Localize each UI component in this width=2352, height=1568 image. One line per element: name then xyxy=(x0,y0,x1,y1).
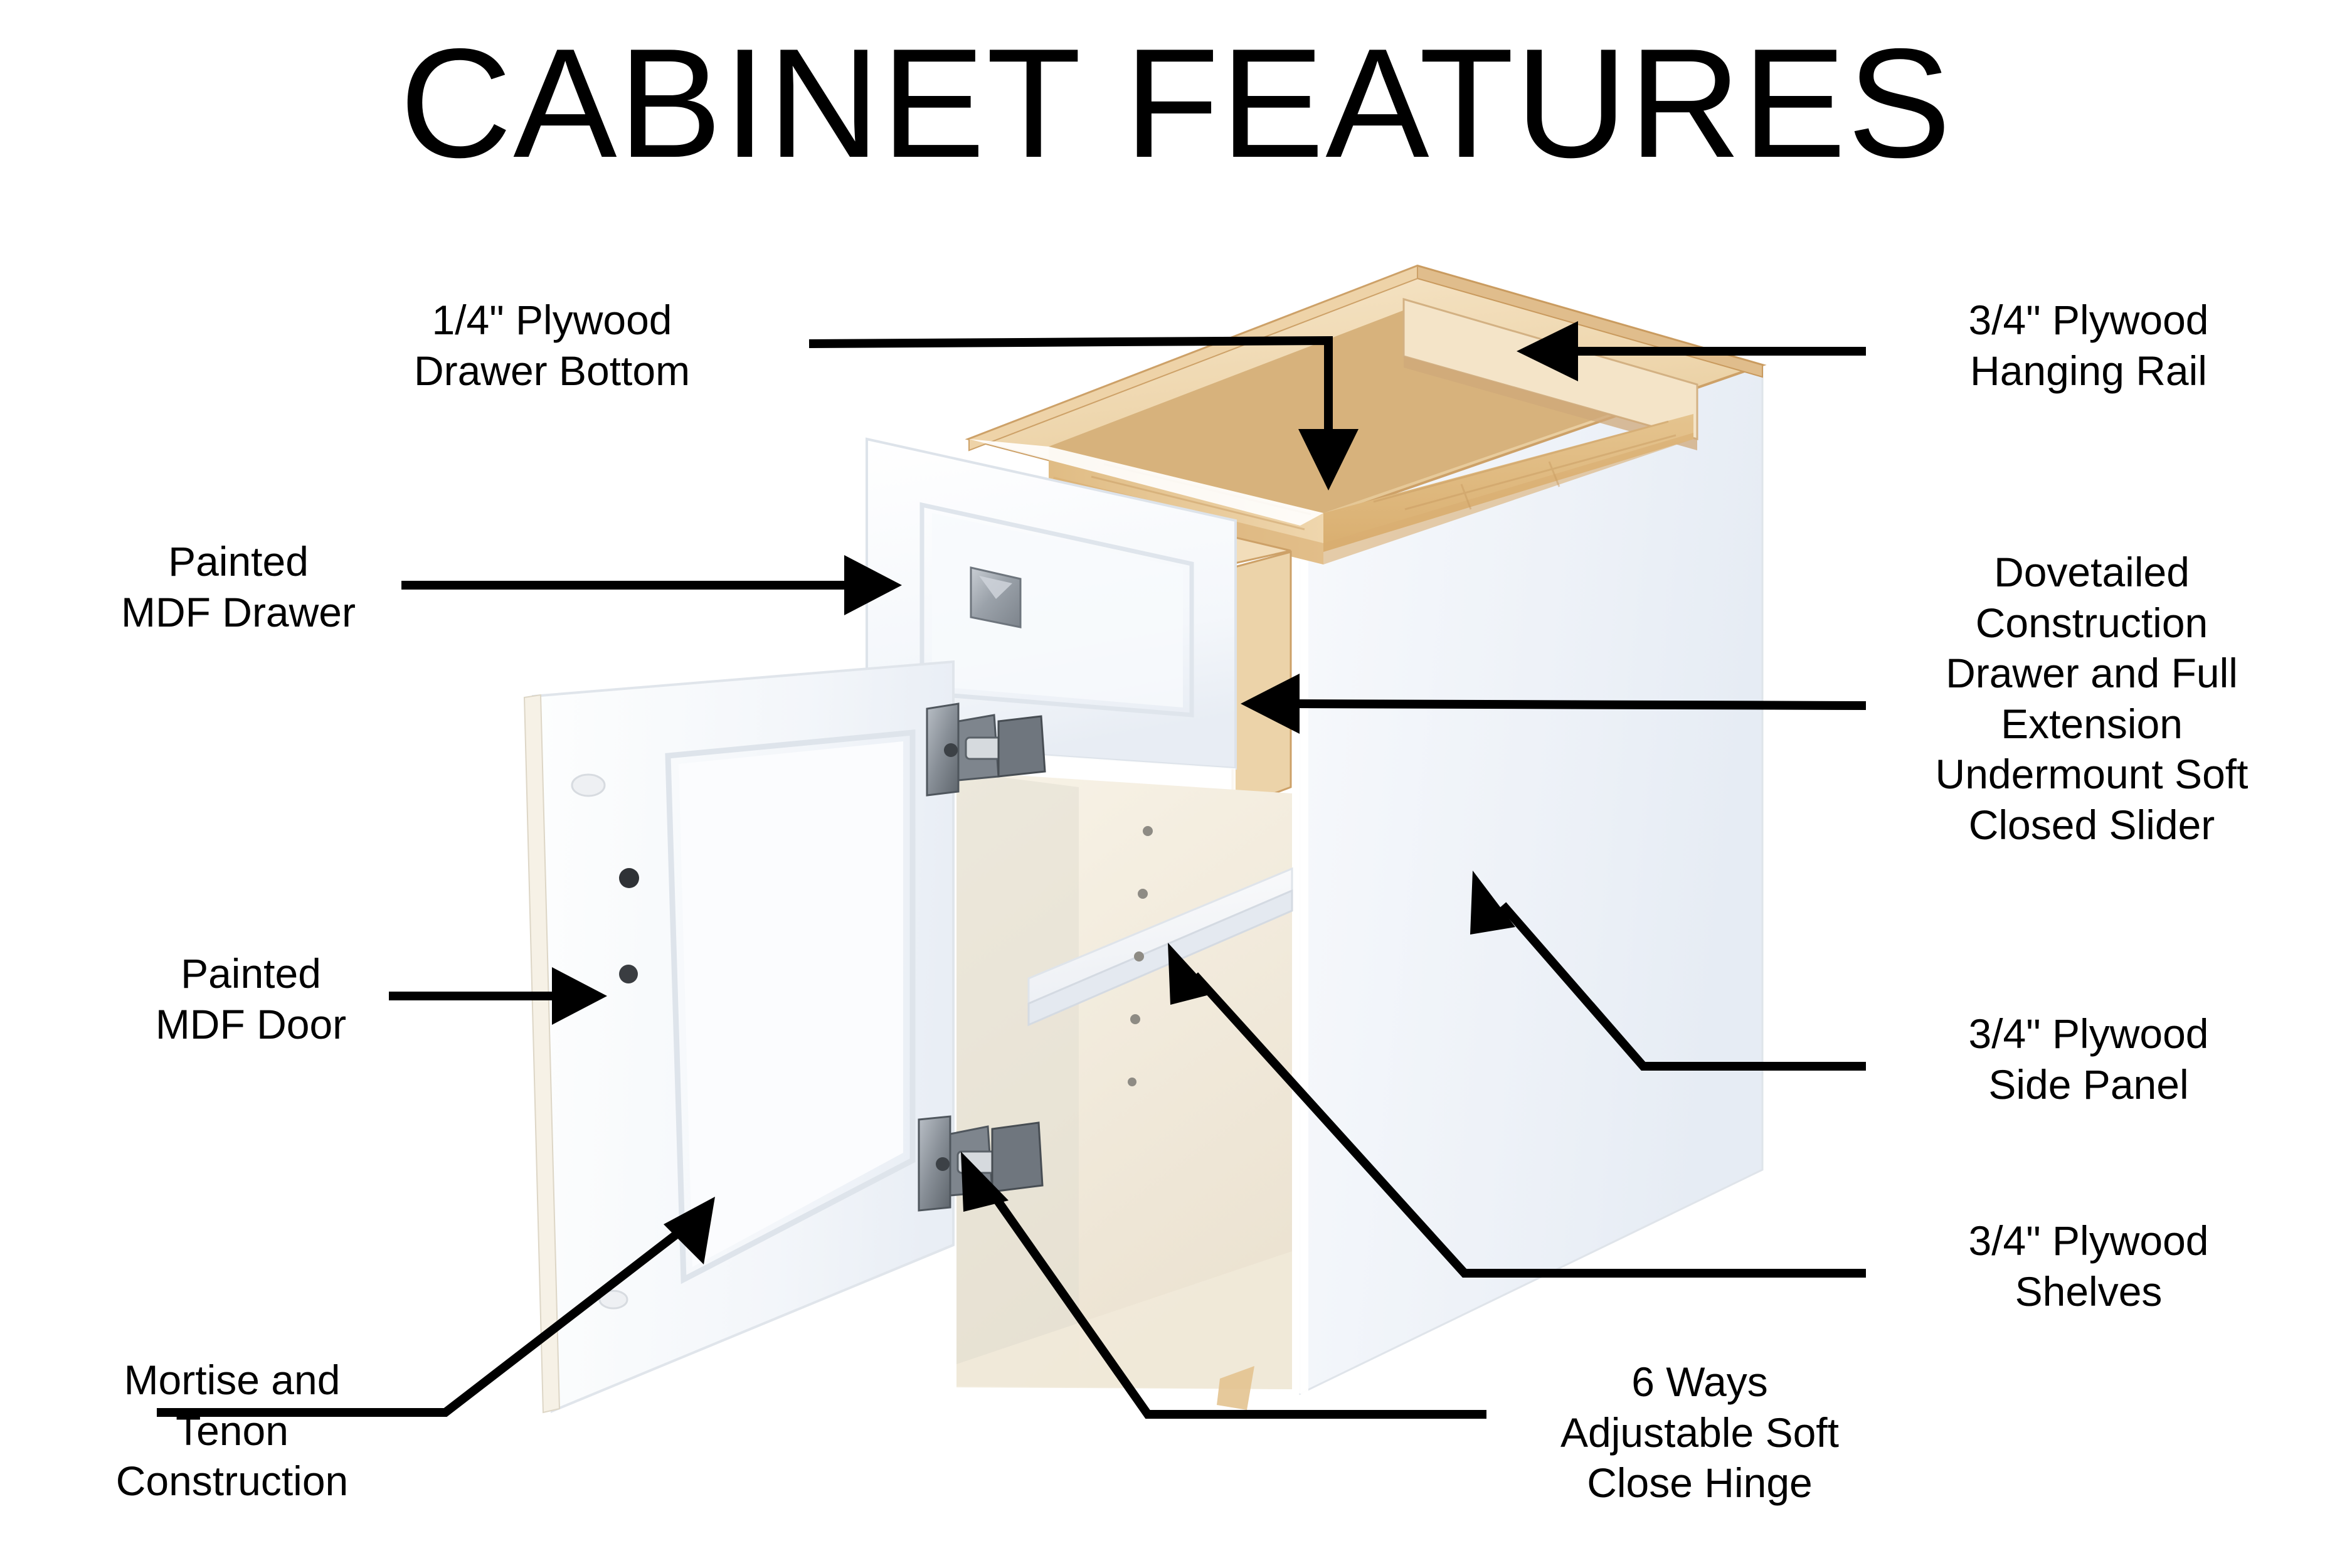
arrowhead-mortise xyxy=(664,1197,715,1264)
cavity-floor xyxy=(1049,433,1693,564)
shelf-pin-holes xyxy=(1128,826,1153,1086)
interior-side-shadow xyxy=(956,771,1079,1387)
cabinet-cavity xyxy=(1049,305,1693,513)
cabinet-bottom-ply-sliver xyxy=(1217,1366,1254,1410)
arrowhead-mdf-door xyxy=(552,967,607,1025)
callout-mortise-tenon: Mortise and Tenon Construction xyxy=(38,1355,426,1507)
cabinet-carcass xyxy=(969,266,1762,1397)
leader-shelves xyxy=(1195,975,1866,1273)
callout-mdf-drawer: Painted MDF Drawer xyxy=(63,536,414,637)
cavity-back-face xyxy=(1323,414,1693,552)
cabinet-front-rail xyxy=(969,439,1323,526)
callout-shelves: 3/4" Plywood Shelves xyxy=(1888,1216,2289,1316)
drawer-interior xyxy=(941,511,1229,618)
leader-dovetail xyxy=(1292,704,1866,706)
callout-dovetailed-slider: Dovetailed Construction Drawer and Full … xyxy=(1875,547,2308,850)
door-panel-outline xyxy=(668,733,913,1279)
side-panel-surface xyxy=(1300,365,1762,1394)
leader-drawer-bottom xyxy=(809,341,1328,439)
leader-side-panel xyxy=(1503,905,1866,1066)
cabinet-back-wall xyxy=(1416,305,1693,414)
callout-soft-close-hinge: 6 Ways Adjustable Soft Close Hinge xyxy=(1486,1357,1913,1508)
hinge-top xyxy=(927,704,1045,795)
callout-mdf-door: Painted MDF Door xyxy=(88,948,414,1049)
drawer-box-bottom-edge xyxy=(867,743,1236,792)
arrowhead-hinge xyxy=(961,1152,1009,1212)
shelf-front-edge xyxy=(1029,891,1292,1025)
arrowhead-hanging-rail xyxy=(1517,321,1578,381)
drawer-assembly xyxy=(867,439,1291,809)
cavity-left-wall xyxy=(1049,447,1323,564)
callout-drawer-bottom: 1/4" Plywood Drawer Bottom xyxy=(351,295,753,396)
door-assembly xyxy=(524,662,1045,1412)
shelf-top xyxy=(1029,869,1292,1004)
door-panel-face xyxy=(679,741,903,1267)
interior-back-wall xyxy=(956,771,1292,1389)
door-edge-strip xyxy=(524,695,559,1412)
hinge-bottom xyxy=(919,1116,1042,1210)
arrowhead-dovetail xyxy=(1241,674,1300,734)
leader-hinge xyxy=(985,1182,1486,1414)
page-title: CABINET FEATURES xyxy=(0,25,2352,181)
drawer-knob xyxy=(971,568,1020,627)
callout-hanging-rail: 3/4" Plywood Hanging Rail xyxy=(1888,295,2289,396)
plywood-grain xyxy=(1091,421,1676,529)
hanging-rail-shadow xyxy=(1404,356,1697,450)
top-ply-edge-band xyxy=(1417,266,1762,377)
door-hinge-bores xyxy=(572,775,639,1308)
drawer-box-side xyxy=(1232,552,1291,809)
drawer-front-panel-inner xyxy=(932,513,1183,707)
drawer-front-panel xyxy=(922,505,1192,715)
arrowhead-shelves xyxy=(1168,943,1214,1005)
cabinet-floor xyxy=(956,1251,1292,1389)
top-ply-edge-band-left xyxy=(969,266,1417,450)
drawer-box-top-edge xyxy=(913,477,1291,564)
door-face xyxy=(533,662,953,1411)
hanging-rail xyxy=(1404,299,1697,439)
cabinet-interior xyxy=(956,771,1292,1389)
arrowhead-side-panel xyxy=(1470,871,1515,935)
arrowhead-drawer-bottom xyxy=(1298,429,1359,490)
cabinet-top-plywood xyxy=(969,266,1762,526)
infographic-canvas: CABINET FEATURES xyxy=(0,0,2352,1568)
side-panel-front-edge xyxy=(1292,524,1308,1397)
arrowhead-mdf-drawer xyxy=(844,555,902,615)
callout-side-panel: 3/4" Plywood Side Panel xyxy=(1888,1009,2289,1110)
drawer-front xyxy=(867,439,1236,768)
